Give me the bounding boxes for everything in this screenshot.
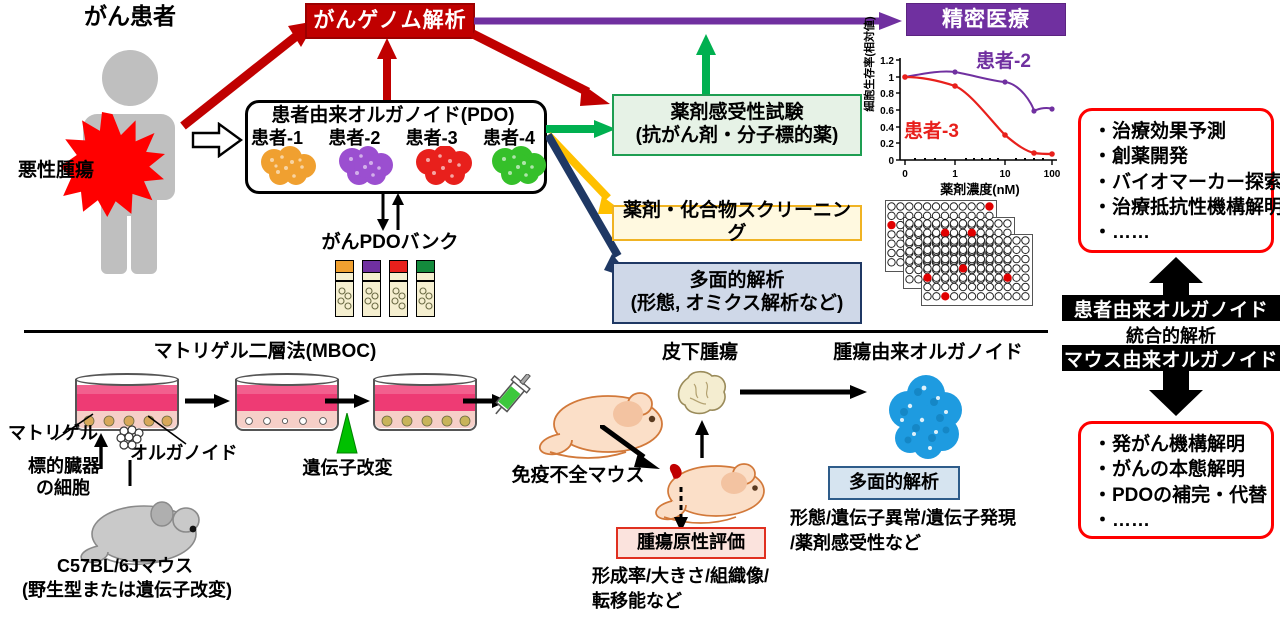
well: [1022, 274, 1029, 281]
well: [888, 259, 895, 266]
multiomics-note-line1: 形態/遺伝子異常/遺伝子発現: [790, 508, 1016, 528]
clinical-outcomes-box: ・治療効果予測 ・創薬開発 ・バイオマーカー探索 ・治療抵抗性機構解明 ・……: [1078, 108, 1274, 253]
gene-edit-triangle-icon: [335, 413, 359, 455]
drug-screening-box[interactable]: 薬剤・化合物スクリーニング: [612, 205, 862, 241]
well: [995, 255, 1002, 262]
integrated-analysis-top-bar: 患者由来オルガノイド: [1062, 295, 1280, 321]
dish1-to-dish2-arrow: [185, 392, 231, 410]
well: [951, 293, 958, 300]
well: [986, 220, 993, 227]
culture-dish-3: [373, 373, 477, 435]
well: [915, 257, 922, 264]
drug-sensitivity-line-2: (抗がん剤・分子標的薬): [636, 125, 839, 148]
syringe-icon: [489, 374, 531, 420]
well: [932, 212, 939, 219]
well-positive: [942, 293, 949, 300]
well: [959, 203, 966, 210]
well: [1022, 265, 1029, 272]
well: [995, 293, 1002, 300]
well: [977, 220, 984, 227]
well: [977, 255, 984, 262]
mechanism-bullet-2: ・がんの本態解明: [1093, 457, 1261, 482]
well: [968, 246, 975, 253]
tumormouse-to-tumor-arrow: [693, 420, 711, 458]
multiomics-analysis-box[interactable]: 多面的解析 (形態, オミクス解析など): [612, 262, 862, 324]
multiomics-line-2: (形態, オミクス解析など): [631, 293, 844, 316]
mouse-to-cells-line: [122, 460, 138, 492]
well: [906, 220, 913, 227]
dish-1-rim: [75, 373, 179, 386]
svg-text:0: 0: [888, 156, 894, 167]
organoid-leader-line: [148, 414, 188, 446]
well: [933, 237, 940, 244]
genome-analysis-box[interactable]: がんゲノム解析: [305, 3, 475, 39]
mechanism-bullet-1: ・発がん機構解明: [1093, 432, 1261, 457]
pdo-bank-label: がんPDOバンク: [305, 232, 475, 253]
well: [933, 220, 940, 227]
well: [1013, 237, 1020, 244]
well: [941, 220, 948, 227]
well-positive: [924, 274, 931, 281]
genome-to-drugsens-arrow: [470, 30, 615, 115]
well: [897, 231, 904, 238]
well: [977, 274, 984, 281]
mechanism-outcomes-box: ・発がん機構解明 ・がんの本態解明 ・PDOの補完・代替 ・……: [1078, 421, 1274, 539]
chart-xlabel: 薬剤濃度(nM): [900, 179, 1060, 198]
well: [897, 212, 904, 219]
dish-2-rim: [235, 373, 339, 386]
well: [924, 283, 931, 290]
well: [897, 240, 904, 247]
dish-3-medium-lower: [375, 394, 475, 411]
well: [1004, 255, 1011, 262]
organoid-patient-4: [487, 146, 551, 186]
svg-text:0.8: 0.8: [880, 89, 894, 100]
well: [906, 248, 913, 255]
well: [951, 246, 958, 253]
well: [888, 240, 895, 247]
well: [1022, 255, 1029, 262]
target-organ-cells-line1: 標的臓器: [28, 456, 100, 476]
well: [977, 293, 984, 300]
svg-text:0.2: 0.2: [880, 139, 894, 150]
well: [1013, 265, 1020, 272]
mechanism-bullet-3: ・PDOの補完・代替: [1093, 483, 1261, 508]
well: [968, 220, 975, 227]
mechanism-bullet-4: ・……: [1093, 508, 1261, 533]
well: [977, 237, 984, 244]
well: [1004, 246, 1011, 253]
multiomics-line-1: 多面的解析: [689, 270, 784, 293]
well: [915, 266, 922, 273]
malignant-tumor-label: 悪性腫瘍: [18, 160, 94, 181]
well: [951, 255, 958, 262]
integrated-down-arrow: [1145, 371, 1207, 417]
well: [924, 293, 931, 300]
well: [995, 229, 1002, 236]
well: [959, 293, 966, 300]
well-positive: [959, 265, 966, 272]
well: [888, 212, 895, 219]
clinical-bullet-2: ・創薬開発: [1093, 144, 1261, 169]
well: [995, 274, 1002, 281]
well: [1004, 237, 1011, 244]
genome-to-precision-arrow: [474, 10, 904, 32]
well: [933, 229, 940, 236]
well: [942, 237, 949, 244]
well: [933, 246, 940, 253]
tumorigenicity-box[interactable]: 腫瘍原性評価: [616, 527, 766, 559]
well: [968, 293, 975, 300]
integrated-analysis-label: 統合的解析: [1062, 322, 1280, 344]
well: [924, 220, 931, 227]
clinical-bullet-5: ・……: [1093, 220, 1261, 245]
well: [942, 265, 949, 272]
well: [924, 237, 931, 244]
well-positive: [968, 229, 975, 236]
well: [1013, 246, 1020, 253]
well: [951, 283, 958, 290]
well: [977, 229, 984, 236]
well: [995, 237, 1002, 244]
tumor-derived-organoid-icon: [880, 372, 976, 464]
well: [942, 283, 949, 290]
svg-text:1.2: 1.2: [880, 56, 894, 67]
well: [986, 229, 993, 236]
section-divider: [24, 330, 1048, 333]
well: [959, 237, 966, 244]
well: [959, 255, 966, 262]
tumorigenicity-note-line2: 転移能など: [592, 591, 682, 611]
multiomics-analysis-box-2[interactable]: 多面的解析: [828, 466, 960, 500]
vial-contents-icons: [335, 281, 447, 321]
well-positive: [941, 229, 948, 236]
organoid-patient-3: [412, 146, 476, 186]
clinical-bullet-1: ・治療効果予測: [1093, 119, 1261, 144]
well: [986, 283, 993, 290]
well: [951, 274, 958, 281]
vial-4-cap: [416, 260, 435, 273]
well: [995, 246, 1002, 253]
drugsens-to-precision-arrow: [694, 34, 718, 96]
well: [968, 203, 975, 210]
well: [915, 220, 922, 227]
well: [950, 203, 957, 210]
well-positive: [888, 221, 895, 228]
well: [1013, 293, 1020, 300]
vial-1-cap: [335, 260, 354, 273]
well: [950, 212, 957, 219]
well: [951, 265, 958, 272]
well: [950, 229, 957, 236]
well: [915, 229, 922, 236]
well: [933, 293, 940, 300]
subq-tumor-label: 皮下腫瘍: [620, 342, 780, 363]
well: [959, 283, 966, 290]
tumorigenicity-note-line1: 形成率/大きさ/組織像/: [592, 566, 769, 586]
pdo-bank-double-arrow: [371, 192, 411, 232]
well: [923, 212, 930, 219]
well: [897, 203, 904, 210]
dish2-to-dish3-arrow: [325, 392, 371, 410]
target-organ-cells-icon: [113, 425, 147, 459]
well: [906, 203, 913, 210]
well: [906, 238, 913, 245]
svg-text:0.6: 0.6: [880, 106, 894, 117]
well: [1004, 220, 1011, 227]
clinical-bullet-3: ・バイオマーカー探索: [1093, 170, 1261, 195]
well: [977, 265, 984, 272]
well: [977, 283, 984, 290]
mouse-strain-line1: C57BL/6Jマウス: [57, 556, 193, 576]
well: [977, 212, 984, 219]
well: [1013, 255, 1020, 262]
well: [897, 249, 904, 256]
svg-text:1: 1: [888, 73, 894, 84]
well: [959, 246, 966, 253]
well: [1022, 293, 1029, 300]
organoid-patient-2: [334, 146, 398, 186]
tumor-organoid-label: 腫瘍由来オルガノイド: [808, 342, 1048, 363]
well: [950, 220, 957, 227]
well: [933, 283, 940, 290]
well: [924, 255, 931, 262]
well: [951, 237, 958, 244]
tumor-to-organoid-arrow: [740, 383, 868, 401]
well: [968, 283, 975, 290]
pdo-to-genome-arrow: [375, 38, 399, 100]
mboc-title: マトリゲル二層法(MBOC): [100, 341, 430, 362]
well: [933, 265, 940, 272]
well: [906, 229, 913, 236]
well: [941, 212, 948, 219]
chart-ylabel: 細胞生存率(相対値): [861, 14, 877, 114]
well: [986, 212, 993, 219]
well: [995, 265, 1002, 272]
well: [897, 259, 904, 266]
well: [942, 255, 949, 262]
multiomics-note-line2: /薬剤感受性など: [790, 533, 921, 553]
well: [924, 229, 931, 236]
culture-dish-2: [235, 373, 339, 435]
well-plate-stack: [885, 200, 1050, 320]
well: [906, 257, 913, 264]
well: [959, 229, 966, 236]
dose-response-chart: 細胞生存率(相対値) 1.2 1 0.8 0.6 0.4 0.2 0: [852, 48, 1067, 198]
dish-1-medium-lower: [77, 394, 177, 411]
well: [888, 231, 895, 238]
well: [924, 265, 931, 272]
well: [915, 212, 922, 219]
organoid-patient-1: [256, 146, 320, 186]
well: [986, 237, 993, 244]
well: [959, 212, 966, 219]
well: [923, 203, 930, 210]
vial-2-cap: [362, 260, 381, 273]
well: [986, 246, 993, 253]
well: [968, 212, 975, 219]
well: [986, 274, 993, 281]
precision-medicine-box[interactable]: 精密医療: [906, 3, 1066, 36]
well: [906, 266, 913, 273]
well: [968, 274, 975, 281]
well: [968, 237, 975, 244]
well: [897, 221, 904, 228]
vial-3-cap: [389, 260, 408, 273]
drug-sensitivity-line-1: 薬剤感受性試験: [670, 102, 803, 125]
well: [1022, 283, 1029, 290]
well: [888, 203, 895, 210]
well: [995, 220, 1002, 227]
tumor-bearing-mouse-icon: [648, 455, 778, 527]
well: [932, 203, 939, 210]
well: [1004, 229, 1011, 236]
subq-tumor-icon: [674, 368, 732, 418]
well: [1013, 274, 1020, 281]
well: [959, 220, 966, 227]
well: [915, 248, 922, 255]
integrated-analysis-bottom-bar: マウス由来オルガノイド: [1062, 345, 1280, 371]
well: [915, 276, 922, 283]
well: [933, 274, 940, 281]
well: [977, 246, 984, 253]
chart-series-label-patient2: 患者-2: [976, 46, 1031, 73]
well: [986, 255, 993, 262]
well: [906, 212, 913, 219]
well: [1004, 293, 1011, 300]
well-positive: [986, 203, 993, 210]
dish-2-medium-lower: [237, 394, 337, 411]
well: [1013, 283, 1020, 290]
well: [995, 283, 1002, 290]
well: [968, 265, 975, 272]
well: [941, 203, 948, 210]
well: [1022, 237, 1029, 244]
well: [915, 238, 922, 245]
well: [977, 203, 984, 210]
well: [942, 246, 949, 253]
well: [968, 255, 975, 262]
drug-sensitivity-box[interactable]: 薬剤感受性試験 (抗がん剤・分子標的薬): [612, 94, 862, 156]
well: [986, 265, 993, 272]
gene-edit-label: 遺伝子改変: [290, 458, 405, 478]
well: [915, 203, 922, 210]
chart-series-label-patient3: 患者-3: [904, 116, 959, 143]
dish-3-rim: [373, 373, 477, 386]
well: [959, 274, 966, 281]
matrigel-label: マトリゲル: [8, 423, 98, 443]
well: [1022, 246, 1029, 253]
svg-text:0.4: 0.4: [880, 123, 894, 134]
well: [906, 276, 913, 283]
well: [933, 255, 940, 262]
well: [986, 293, 993, 300]
clinical-bullet-4: ・治療抵抗性機構解明: [1093, 195, 1261, 220]
mouse-strain-line2: (野生型または遺伝子改変): [22, 580, 232, 600]
well: [1004, 283, 1011, 290]
well: [888, 249, 895, 256]
well: [924, 246, 931, 253]
well: [1004, 265, 1011, 272]
well: [942, 274, 949, 281]
well-positive: [1004, 274, 1011, 281]
